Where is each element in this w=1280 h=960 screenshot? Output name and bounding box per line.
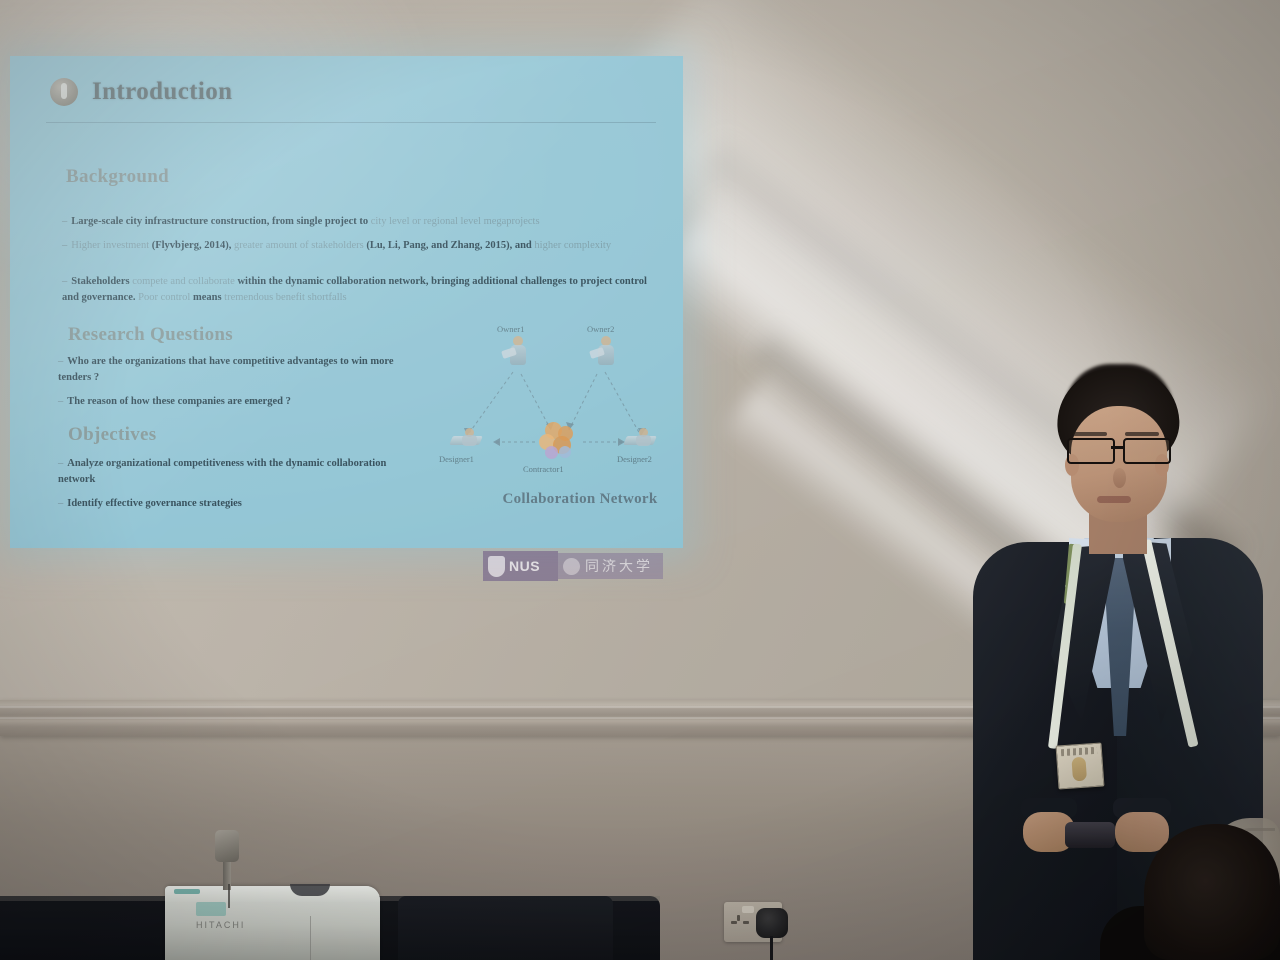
bullet-dash: –	[62, 276, 67, 287]
designer2-desk-icon	[625, 428, 655, 450]
background-bullet-2: –Higher investment (Flyvbjerg, 2014), gr…	[62, 238, 662, 254]
eyeglasses-icon	[1065, 438, 1173, 462]
projected-slide: Introduction Background –Large-scale cit…	[10, 56, 683, 548]
bullet-part: (Flyvbjerg, 2014),	[152, 240, 234, 251]
mouth	[1097, 496, 1131, 503]
face	[1071, 406, 1167, 522]
audience-member	[1144, 824, 1280, 960]
projector-lens-assembly	[215, 830, 239, 888]
research-question-text: The reason of how these companies are em…	[67, 396, 291, 407]
node-label-designer2: Designer2	[617, 454, 652, 464]
power-plug	[756, 908, 788, 938]
slide-logos: NUS 同济大学	[483, 551, 663, 581]
node-label-designer1: Designer1	[439, 454, 474, 464]
owner1-figure-icon	[505, 336, 531, 366]
bullet-part: (Lu, Li, Pang, and Zhang, 2015), and	[366, 240, 534, 251]
collaboration-network-diagram: Owner1 Owner2 Designer1 Designer2	[435, 324, 670, 484]
hand-right	[1115, 812, 1169, 852]
eyebrow-left	[1073, 432, 1107, 436]
bullet-part: city level or regional level megaproject…	[371, 216, 540, 227]
projector-side-panel	[310, 916, 365, 960]
presentation-clicker[interactable]	[1065, 822, 1115, 848]
bullet-dash: –	[62, 240, 67, 251]
bullet-part: Higher investment	[71, 240, 151, 251]
nus-crest-icon	[488, 556, 505, 577]
projector-vent	[174, 889, 200, 894]
laptop	[398, 896, 613, 960]
bullet-part: Stakeholders	[71, 276, 132, 287]
presentation-photo: Introduction Background –Large-scale cit…	[0, 0, 1280, 960]
research-question-2: –The reason of how these companies are e…	[58, 394, 418, 410]
background-bullet-3: –Stakeholders compete and collaborate wi…	[62, 274, 662, 305]
tongji-crest-icon	[563, 558, 580, 575]
slide-title-row: Introduction	[50, 78, 232, 106]
bullet-dash: –	[62, 216, 67, 227]
power-cord	[770, 936, 773, 960]
bullet-part: Poor control	[138, 292, 193, 303]
projector-badge	[196, 902, 226, 916]
projector-cord	[228, 884, 230, 908]
outlet-socket-holes	[730, 915, 750, 933]
objective-2: –Identify effective governance strategie…	[58, 496, 398, 512]
bullet-part: compete and collaborate	[132, 276, 237, 287]
nus-logo: NUS	[483, 551, 558, 581]
contractor1-cluster-icon	[537, 422, 581, 462]
owner2-figure-icon	[593, 336, 619, 366]
research-question-1: –Who are the organizations that have com…	[58, 354, 418, 385]
bullet-part: tremendous benefit shortfalls	[224, 292, 346, 303]
designer1-desk-icon	[451, 428, 481, 450]
slide-title: Introduction	[92, 78, 232, 106]
section-heading-background: Background	[66, 166, 169, 188]
nose	[1113, 468, 1126, 488]
diagram-caption: Collaboration Network	[480, 491, 680, 508]
bullet-part: means	[193, 292, 224, 303]
objective-text: Analyze organizational competitiveness w…	[58, 458, 386, 485]
title-divider	[46, 122, 656, 123]
nus-logo-text: NUS	[509, 558, 540, 574]
objective-text: Identify effective governance strategies	[67, 498, 242, 509]
node-label-owner2: Owner2	[587, 324, 614, 334]
bullet-part: higher complexity	[534, 240, 611, 251]
tongji-logo-text: 同济大学	[585, 556, 653, 576]
outlet-switch[interactable]	[742, 906, 754, 913]
tongji-logo: 同济大学	[558, 553, 663, 579]
projector-brand-label: HITACHI	[196, 920, 245, 930]
background-bullet-1: –Large-scale city infrastructure constru…	[62, 214, 662, 230]
projector-lens-opening	[290, 884, 330, 896]
bullet-part: greater amount of stakeholders	[234, 240, 366, 251]
research-question-text: Who are the organizations that have comp…	[58, 356, 394, 383]
node-label-contractor1: Contractor1	[523, 464, 564, 474]
eyebrow-right	[1125, 432, 1159, 436]
section-heading-research-questions: Research Questions	[68, 324, 233, 346]
bullet-part: Large-scale city infrastructure construc…	[71, 216, 370, 227]
torch-bullet-icon	[50, 78, 78, 106]
objective-1: –Analyze organizational competitiveness …	[58, 456, 398, 487]
section-heading-objectives: Objectives	[68, 424, 156, 446]
name-badge	[1056, 742, 1105, 789]
node-label-owner1: Owner1	[497, 324, 524, 334]
